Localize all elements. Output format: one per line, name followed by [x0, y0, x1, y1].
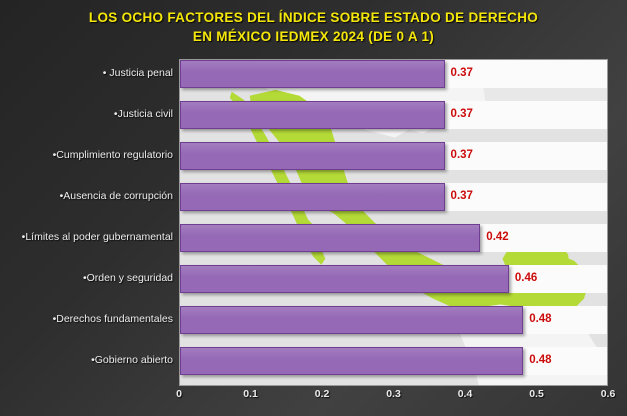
- category-label: •Justicia civil: [0, 108, 173, 120]
- bar-value-label: 0.42: [486, 231, 508, 243]
- bar[interactable]: [180, 60, 445, 88]
- x-axis-tick: 0.5: [529, 388, 544, 400]
- bar-value-label: 0.46: [515, 272, 537, 284]
- x-axis-tick: 0: [176, 388, 182, 400]
- category-label: •Cumplimiento regulatorio: [0, 149, 173, 161]
- bar-value-label: 0.37: [451, 190, 473, 202]
- bar[interactable]: [180, 224, 480, 252]
- category-label: • Justicia penal: [0, 67, 173, 79]
- category-axis: • Justicia penal•Justicia civil•Cumplimi…: [0, 59, 179, 386]
- x-axis-tick: 0.2: [315, 388, 330, 400]
- bar[interactable]: [180, 101, 445, 129]
- category-label: •Límites al poder gubernamental: [0, 231, 173, 243]
- bar[interactable]: [180, 183, 445, 211]
- category-label: •Gobierno abierto: [0, 354, 173, 366]
- x-axis-tick: 0.6: [601, 388, 616, 400]
- bar-value-label: 0.37: [451, 149, 473, 161]
- category-label: •Orden y seguridad: [0, 272, 173, 284]
- chart-title: LOS OCHO FACTORES DEL ÍNDICE SOBRE ESTAD…: [0, 8, 627, 46]
- bar-value-label: 0.37: [451, 67, 473, 79]
- chart-title-line-2: EN MÉXICO IEDMEX 2024 (DE 0 A 1): [0, 27, 627, 46]
- bar[interactable]: [180, 306, 523, 334]
- category-label: •Ausencia de corrupción: [0, 190, 173, 202]
- x-axis: 00.10.20.30.40.50.6: [179, 388, 608, 408]
- bar-value-label: 0.37: [451, 108, 473, 120]
- category-label: •Derechos fundamentales: [0, 313, 173, 325]
- x-axis-tick: 0.4: [458, 388, 473, 400]
- bar[interactable]: [180, 265, 509, 293]
- bar[interactable]: [180, 142, 445, 170]
- x-axis-tick: 0.3: [386, 388, 401, 400]
- bar-value-label: 0.48: [529, 354, 551, 366]
- bar[interactable]: [180, 347, 523, 375]
- chart-title-line-1: LOS OCHO FACTORES DEL ÍNDICE SOBRE ESTAD…: [0, 8, 627, 27]
- plot-area: [179, 59, 608, 386]
- x-axis-tick: 0.1: [243, 388, 258, 400]
- bar-value-label: 0.48: [529, 313, 551, 325]
